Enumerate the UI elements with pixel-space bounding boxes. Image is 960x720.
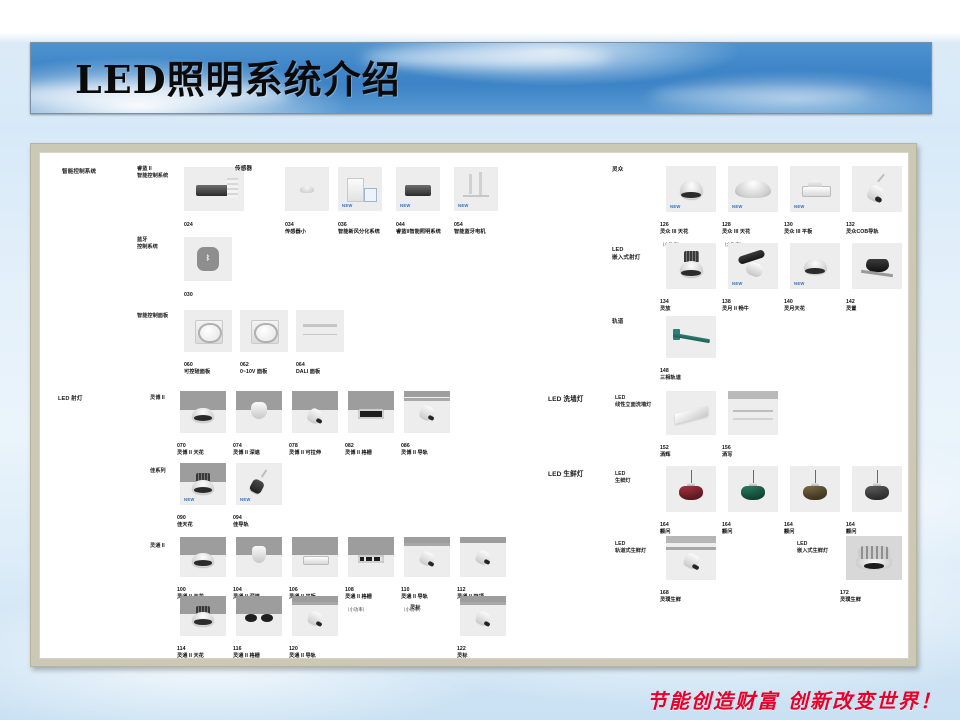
product-caption-074: 074 灵博 II 深遮 [233, 436, 260, 456]
thumb-image: NEW [790, 166, 840, 212]
antenna-icon [469, 174, 472, 194]
spotlight-lens-icon [315, 620, 323, 627]
ceiling-plane [728, 391, 778, 399]
new-badge: NEW [732, 281, 743, 286]
product-code: 086 [401, 443, 410, 449]
product-thumb-108[interactable] [348, 537, 394, 577]
thumb-image: ᛒ [184, 237, 232, 281]
product-thumb-094[interactable]: NEW [236, 463, 282, 505]
product-code: 172 [840, 590, 849, 596]
product-code: 152 [660, 445, 669, 451]
product-thumb-078[interactable] [292, 391, 338, 433]
product-name: 灵置 [846, 306, 856, 312]
product-code: 164 [660, 522, 669, 528]
product-caption-108: 108 灵通 II 格栅 （小功率） [345, 580, 372, 614]
track-rail-icon [292, 602, 338, 605]
product-code: 074 [233, 443, 242, 449]
new-badge: NEW [794, 281, 805, 286]
ceiling-plane [460, 537, 506, 543]
product-code: 064 [296, 362, 305, 368]
product-name: 灵通 II 导轨 [289, 653, 316, 659]
product-code: 164 [722, 522, 731, 528]
controller-box-icon [405, 185, 431, 196]
product-thumb-100[interactable] [180, 537, 226, 577]
flat-panel-icon [802, 186, 831, 196]
spotlight-lens-icon [483, 620, 491, 627]
slide-canvas: LED照明系统介绍 智能控制系统 睿蓝 II 智能控制系统 024 蓝牙 控制系… [0, 0, 960, 720]
product-thumb-112[interactable] [460, 537, 506, 577]
pendant-cord-icon [691, 470, 693, 484]
spotlight-lens-icon [315, 417, 323, 424]
thumb-image [285, 167, 329, 211]
product-thumb-130[interactable]: NEW [790, 166, 840, 212]
product-caption-156: 156 洒写 [722, 438, 732, 458]
thumb-image [292, 391, 338, 433]
product-name: 灵放 [660, 306, 670, 312]
product-name: 灵通 II 格栅 [345, 594, 372, 600]
product-code: 142 [846, 299, 855, 305]
product-thumb-060[interactable] [184, 310, 232, 352]
product-code: 120 [289, 646, 298, 652]
product-caption-140: 140 灵月天花 [784, 292, 805, 312]
downlight-aperture-icon [194, 560, 212, 566]
spotlight-head-icon [248, 478, 264, 495]
cloud-streak-icon [651, 87, 871, 103]
terminal-strip-icon [227, 178, 238, 197]
product-thumb-116[interactable] [236, 596, 282, 636]
product-name: 灵众COB导轨 [846, 229, 879, 235]
product-thumb-156[interactable] [728, 391, 778, 435]
product-code: 164 [846, 522, 855, 528]
air-system-panel-icon [347, 178, 364, 202]
product-code: 060 [184, 362, 193, 368]
product-name: 传感器小 [285, 229, 306, 235]
product-caption-134: 134 灵放 [660, 292, 670, 312]
product-name: 灵众 III 平板 [784, 229, 812, 235]
product-thumb-044[interactable]: NEW [396, 167, 440, 211]
new-badge: NEW [184, 497, 195, 502]
group-label-fresh-track: LED 轨道式生鲜灯 [615, 541, 646, 555]
product-name: 灵标 [457, 653, 467, 659]
product-code: 090 [177, 515, 186, 521]
thumb-image: NEW [666, 166, 716, 212]
product-name: 智能新风分化系统 [338, 229, 380, 235]
new-badge: NEW [342, 203, 353, 208]
section-label-led-recessed: LED 嵌入式射灯 [612, 247, 640, 262]
product-thumb-168[interactable] [666, 536, 716, 580]
product-code: 106 [289, 587, 298, 593]
product-code: 054 [454, 222, 463, 228]
track-rail-icon [404, 398, 450, 401]
product-thumb-126[interactable]: NEW [666, 166, 716, 212]
thumb-image [728, 391, 778, 435]
product-caption-120: 120 灵通 II 导轨 （大功率） [289, 639, 316, 659]
product-caption-082: 082 灵博 II 格栅 [345, 436, 372, 456]
pendant-shade-icon [741, 486, 765, 500]
product-code: 110 [401, 587, 410, 593]
product-thumb-062[interactable] [240, 310, 288, 352]
group-label-fresh-pendant: LED 生鲜灯 [615, 471, 631, 485]
product-caption-116: 116 灵通 II 格栅 （大功率） [233, 639, 260, 659]
ceiling-plane [460, 596, 506, 602]
product-caption-094: 094 佳导轨 [233, 508, 249, 528]
product-name: 灵月 II 畅牛 [722, 306, 749, 312]
thumb-image [666, 466, 716, 512]
downlight-body-icon [735, 180, 771, 198]
product-code: 114 [177, 646, 186, 652]
thumb-image: NEW [728, 243, 778, 289]
track-rail-icon [666, 547, 716, 550]
thumb-image [180, 391, 226, 433]
thumb-image [184, 310, 232, 352]
product-code: 132 [846, 222, 855, 228]
product-thumb-036[interactable]: NEW [338, 167, 382, 211]
product-thumb-164-grey[interactable] [852, 466, 902, 512]
product-code: 082 [345, 443, 354, 449]
product-thumb-134[interactable] [666, 243, 716, 289]
thumb-image [846, 536, 902, 580]
catalog-sheet: 智能控制系统 睿蓝 II 智能控制系统 024 蓝牙 控制系统 ᛒ [39, 152, 909, 659]
thumb-image [666, 243, 716, 289]
product-thumb-122[interactable] [460, 596, 506, 636]
group-label-jia-series: 佳系列 [150, 468, 166, 475]
product-thumb-138[interactable]: NEW [728, 243, 778, 289]
deep-recess-body-icon [252, 546, 267, 564]
product-name: 灵博 II 深遮 [233, 450, 260, 456]
product-code: 126 [660, 222, 669, 228]
thumb-image: NEW [180, 463, 226, 505]
panel-dome-icon [808, 180, 822, 187]
product-caption-152: 152 洒辉 [660, 438, 670, 458]
product-caption-132: 132 灵众COB导轨 [846, 215, 879, 235]
product-name: 灵璞生鲜 [660, 597, 681, 603]
product-caption-168: 168 灵璞生鲜 [660, 583, 681, 603]
spotlight-lens-icon [691, 564, 699, 571]
spotlight-head-icon [744, 261, 765, 279]
product-code: 078 [289, 443, 298, 449]
ceiling-plane [292, 596, 338, 602]
thumb-image [348, 537, 394, 577]
pendant-shade-icon [865, 486, 889, 500]
product-caption-064: 064 DALI 面板 [296, 355, 320, 375]
product-code: 036 [338, 222, 347, 228]
product-name: 灵通 II 天花 [177, 653, 204, 659]
product-thumb-110[interactable] [404, 537, 450, 577]
grille-luminaire-icon [358, 555, 384, 564]
ceiling-plane [236, 596, 282, 614]
new-badge: NEW [400, 203, 411, 208]
product-code: 164 [784, 522, 793, 528]
product-thumb-034[interactable] [285, 167, 329, 211]
ceiling-plane [404, 391, 450, 397]
section-label-sensor: 传感器 [235, 166, 252, 174]
thumb-image [460, 596, 506, 636]
product-caption-130: 130 灵众 III 平板 [784, 215, 812, 235]
spotlight-lens-icon [427, 415, 435, 422]
section-label-track: 轨道 [612, 319, 623, 327]
pendant-cord-icon [753, 470, 755, 484]
product-thumb-120[interactable] [292, 596, 338, 636]
product-name: 灵博 II 格栅 [345, 450, 372, 456]
product-caption-086: 086 灵博 II 导轨 [401, 436, 428, 456]
thumb-image [348, 391, 394, 433]
product-code: 156 [722, 445, 731, 451]
group-label-lingbo2: 灵博 II [150, 395, 165, 402]
product-caption-122: 122 灵标 [457, 639, 467, 659]
thumb-image [666, 316, 716, 358]
thumb-image: NEW [728, 166, 778, 212]
spotlight-arm-icon [877, 174, 885, 183]
pendant-shade-icon [679, 486, 703, 500]
product-thumb-070[interactable] [180, 391, 226, 433]
thumb-image [240, 310, 288, 352]
grille-cell-icon [261, 614, 273, 622]
catalog-board: 智能控制系统 睿蓝 II 智能控制系统 024 蓝牙 控制系统 ᛒ [30, 143, 917, 667]
rotary-knob-icon [254, 323, 277, 344]
product-name: 灵众 III 天花 [722, 229, 750, 235]
group-label-lingbiao: 灵标 [410, 605, 420, 612]
section-label-wallwash: LED 洗墙灯 [548, 396, 584, 405]
wall-line-icon [733, 418, 773, 420]
product-code: 134 [660, 299, 669, 305]
product-code: 138 [722, 299, 731, 305]
product-caption-036: 036 智能新风分化系统 [338, 215, 380, 235]
section-label-fresh: LED 生鲜灯 [548, 471, 584, 480]
product-thumb-064[interactable] [296, 310, 344, 352]
product-thumb-024[interactable] [184, 167, 244, 211]
deep-recess-body-icon [251, 402, 268, 419]
ceiling-plane [292, 537, 338, 555]
product-name: DALI 面板 [296, 369, 320, 375]
new-badge: NEW [794, 204, 805, 209]
product-caption-142: 142 灵置 [846, 292, 856, 312]
thumb-image: NEW [236, 463, 282, 505]
product-thumb-074[interactable] [236, 391, 282, 433]
pendant-shade-icon [803, 486, 827, 500]
thumb-image [666, 391, 716, 435]
section-label-led-spotlight: LED 射灯 [58, 396, 83, 404]
track-rail-icon [404, 543, 450, 546]
thumb-image [296, 310, 344, 352]
product-name: 灵博 II 导轨 [401, 450, 428, 456]
thumb-image [666, 536, 716, 580]
ceiling-plane [348, 537, 394, 555]
thumb-image [292, 596, 338, 636]
thumb-image: NEW [790, 243, 840, 289]
product-caption-030: 030 [184, 285, 193, 299]
product-name: 佳天花 [177, 522, 193, 528]
thumb-image [404, 537, 450, 577]
footer-slogan: 节能创造财富 创新改变世界！ [647, 685, 942, 714]
product-code: 148 [660, 368, 669, 374]
product-thumb-132[interactable] [852, 166, 902, 212]
title-banner: LED照明系统介绍 [30, 42, 932, 114]
product-thumb-104[interactable] [236, 537, 282, 577]
product-thumb-106[interactable] [292, 537, 338, 577]
grille-luminaire-icon [358, 409, 384, 418]
product-caption-148: 148 三相轨道 [660, 361, 681, 381]
flat-panel-icon [303, 556, 330, 564]
product-code: 108 [345, 587, 354, 593]
sensor-dome-icon [300, 186, 315, 193]
product-thumb-164-green[interactable] [728, 466, 778, 512]
product-thumb-054[interactable]: NEW [454, 167, 498, 211]
product-caption-114: 114 灵通 II 天花 （大功率） [177, 639, 204, 659]
downlight-aperture-icon [194, 619, 212, 625]
rotary-knob-icon [198, 323, 221, 344]
product-name: 灵璞生鲜 [840, 597, 861, 603]
thumb-image [790, 466, 840, 512]
group-label-fresh-recessed: LED 嵌入式生鲜灯 [797, 541, 828, 555]
product-name: 灵博 II 天花 [177, 450, 204, 456]
wall-line-icon [733, 410, 773, 412]
product-code: 168 [660, 590, 669, 596]
spotlight-lens-icon [483, 559, 491, 566]
product-thumb-086[interactable] [404, 391, 450, 433]
section-label-smart-control: 智能控制系统 [62, 169, 96, 177]
new-badge: NEW [458, 203, 469, 208]
product-code: 130 [784, 222, 793, 228]
product-name: 灵博 II 可拉伸 [289, 450, 321, 456]
page-title: LED照明系统介绍 [75, 49, 401, 104]
spotlight-lens-icon [874, 196, 882, 203]
product-code: 100 [177, 587, 186, 593]
product-code: 034 [285, 222, 294, 228]
product-name: 颧问 [846, 529, 856, 535]
pendant-cord-icon [877, 470, 879, 484]
group-label-bluetooth: 蓝牙 控制系统 [137, 237, 158, 251]
product-thumb-164-brown[interactable] [790, 466, 840, 512]
dali-panel-line-icon [303, 334, 337, 336]
group-label-wallwash: LED 线性立面洗墙灯 [615, 395, 651, 409]
product-code: 094 [233, 515, 242, 521]
product-name: 0~10V 面板 [240, 369, 267, 375]
product-name: 可控硅面板 [184, 369, 210, 375]
product-code: 140 [784, 299, 793, 305]
product-caption-062: 062 0~10V 面板 [240, 355, 267, 375]
thumb-image: NEW [454, 167, 498, 211]
product-thumb-030[interactable]: ᛒ [184, 237, 232, 281]
new-badge: NEW [240, 497, 251, 502]
new-badge: NEW [670, 204, 681, 209]
product-code: 128 [722, 222, 731, 228]
product-thumb-128[interactable]: NEW [728, 166, 778, 212]
product-caption-070: 070 灵博 II 天花 [177, 436, 204, 456]
product-name: 佳导轨 [233, 522, 249, 528]
product-code: 044 [396, 222, 405, 228]
thumb-image: NEW [338, 167, 382, 211]
product-thumb-164-red[interactable] [666, 466, 716, 512]
product-thumb-152[interactable] [666, 391, 716, 435]
product-caption-034: 034 传感器小 [285, 215, 306, 235]
thumb-image: NEW [396, 167, 440, 211]
product-name: 颧问 [784, 529, 794, 535]
product-code: 116 [233, 646, 242, 652]
section-label-lingzhong: 灵众 [612, 167, 623, 175]
thumb-image [404, 391, 450, 433]
pendant-cord-icon [815, 470, 817, 484]
product-caption-164-red: 164 颧问 [660, 515, 670, 535]
downlight-aperture-icon [805, 268, 825, 274]
product-code: 062 [240, 362, 249, 368]
grille-cell-icon [245, 614, 257, 622]
product-code: 104 [233, 587, 242, 593]
product-thumb-090[interactable]: NEW [180, 463, 226, 505]
product-caption-060: 060 可控硅面板 [184, 355, 210, 375]
downlight-aperture-icon [681, 270, 701, 276]
thumb-image [292, 537, 338, 577]
ceiling-plane [348, 391, 394, 410]
product-code: 070 [177, 443, 186, 449]
product-name: 灵众 III 天花 [660, 229, 688, 235]
thumb-image [852, 243, 902, 289]
product-code: 024 [184, 222, 193, 228]
thumb-image [728, 466, 778, 512]
product-caption-090: 090 佳天花 [177, 508, 193, 528]
product-caption-044: 044 睿蓝II智能照明系统 [396, 215, 441, 235]
product-thumb-082[interactable] [348, 391, 394, 433]
thumb-image [184, 167, 244, 211]
product-caption-054: 054 智能蓝牙电机 [454, 215, 485, 235]
product-name: 颧问 [660, 529, 670, 535]
thumb-image [460, 537, 506, 577]
product-thumb-114[interactable] [180, 596, 226, 636]
base-line-icon [463, 195, 489, 197]
product-code: 122 [457, 646, 466, 652]
product-caption-164-green: 164 颧问 [722, 515, 732, 535]
product-caption-172: 172 灵璞生鲜 [840, 583, 861, 603]
thumb-image [236, 537, 282, 577]
product-name: 三相轨道 [660, 375, 681, 381]
thumb-image [236, 596, 282, 636]
new-badge: NEW [732, 204, 743, 209]
ceiling-plane [666, 536, 716, 543]
product-name: 灵月天花 [784, 306, 805, 312]
product-name: 睿蓝II智能照明系统 [396, 229, 441, 235]
product-name: 洒写 [722, 452, 732, 458]
bluetooth-glyph-icon: ᛒ [200, 246, 216, 272]
thumb-image [852, 466, 902, 512]
product-thumb-148[interactable] [666, 316, 716, 358]
group-label-easy-smart: 睿蓝 II 智能控制系统 [137, 166, 168, 180]
product-name: 颧问 [722, 529, 732, 535]
group-label-smart-panel: 智能控制面板 [137, 313, 168, 320]
spotlight-lens-icon [427, 561, 435, 568]
spotlight-arm-icon [260, 469, 267, 478]
control-screen-icon [364, 188, 377, 201]
thumb-image [180, 537, 226, 577]
product-name: 灵通 II 导轨 [401, 594, 428, 600]
product-caption-138: 138 灵月 II 畅牛 [722, 292, 749, 312]
product-caption-164-grey: 164 颧问 [846, 515, 856, 535]
product-caption-078: 078 灵博 II 可拉伸 [289, 436, 321, 456]
product-thumb-172[interactable] [846, 536, 902, 580]
product-thumb-142[interactable] [852, 243, 902, 289]
product-name: 灵通 II 格栅 [233, 653, 260, 659]
product-code: 112 [457, 587, 466, 593]
ceiling-plane [404, 537, 450, 543]
product-name: 洒辉 [660, 452, 670, 458]
thumb-image [236, 391, 282, 433]
product-caption-164-brown: 164 颧问 [784, 515, 794, 535]
thumb-image [852, 166, 902, 212]
product-thumb-140[interactable]: NEW [790, 243, 840, 289]
antenna-icon [479, 172, 482, 195]
product-code: 030 [184, 292, 193, 298]
wallwasher-body-icon [675, 406, 708, 424]
downlight-aperture-icon [864, 563, 883, 569]
thumb-image [180, 596, 226, 636]
